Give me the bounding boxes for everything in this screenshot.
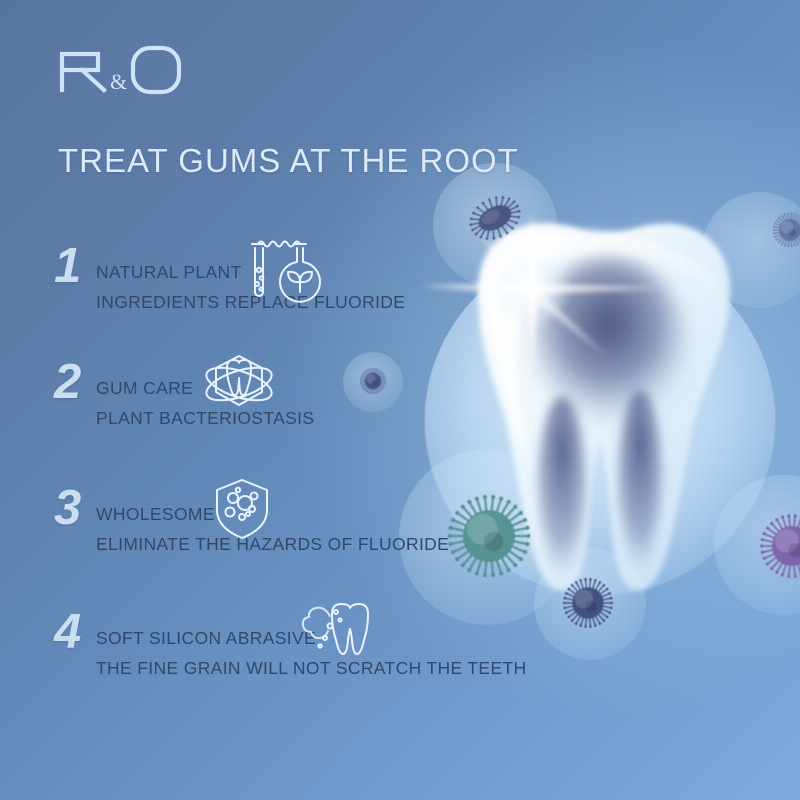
- feature-item: 4SOFT SILICON ABRASIVETHE FINE GRAIN WIL…: [50, 606, 520, 702]
- feature-number: 2: [54, 358, 81, 407]
- tooth-orbit-icon: [202, 350, 276, 425]
- feature-line-2: ELIMINATE THE HAZARDS OF FLUORIDE: [96, 534, 449, 555]
- page-title: TREAT GUMS AT THE ROOT: [58, 142, 519, 180]
- feature-number: 1: [54, 242, 81, 291]
- feature-line-1: WHOLESOME: [96, 504, 215, 525]
- feature-line-1: NATURAL PLANT: [96, 262, 242, 283]
- flask-leaf-icon: [238, 234, 324, 312]
- shield-bubbles-icon: [212, 476, 272, 542]
- brand-logo[interactable]: &: [56, 34, 186, 98]
- shield-bubbles-icon: [212, 476, 272, 547]
- feature-line-1: SOFT SILICON ABRASIVE: [96, 628, 316, 649]
- rod-bacterium: [466, 189, 524, 247]
- tooth-foam-icon: [292, 600, 370, 675]
- flask-leaf-icon: [238, 234, 324, 317]
- tooth-orbit-icon: [202, 350, 276, 420]
- poster-canvas: & TREAT GUMS AT THE ROOT 1NATURAL PLANTI…: [0, 0, 800, 800]
- faint-virus-topright: [770, 210, 800, 250]
- svg-text:&: &: [110, 69, 127, 94]
- feature-number: 4: [54, 608, 81, 657]
- feature-line-1: GUM CARE: [96, 378, 193, 399]
- feature-item: 1NATURAL PLANTINGREDIENTS REPLACE FLUORI…: [50, 240, 520, 336]
- purple-virus-right: [755, 509, 800, 583]
- feature-item: 3WHOLESOMEELIMINATE THE HAZARDS OF FLUOR…: [50, 482, 520, 578]
- navy-virus: [559, 574, 617, 632]
- logo-mark: &: [56, 34, 186, 98]
- feature-item: 2GUM CAREPLANT BACTERIOSTASIS: [50, 356, 520, 452]
- tooth-foam-icon: [292, 600, 370, 670]
- feature-number: 3: [54, 484, 81, 533]
